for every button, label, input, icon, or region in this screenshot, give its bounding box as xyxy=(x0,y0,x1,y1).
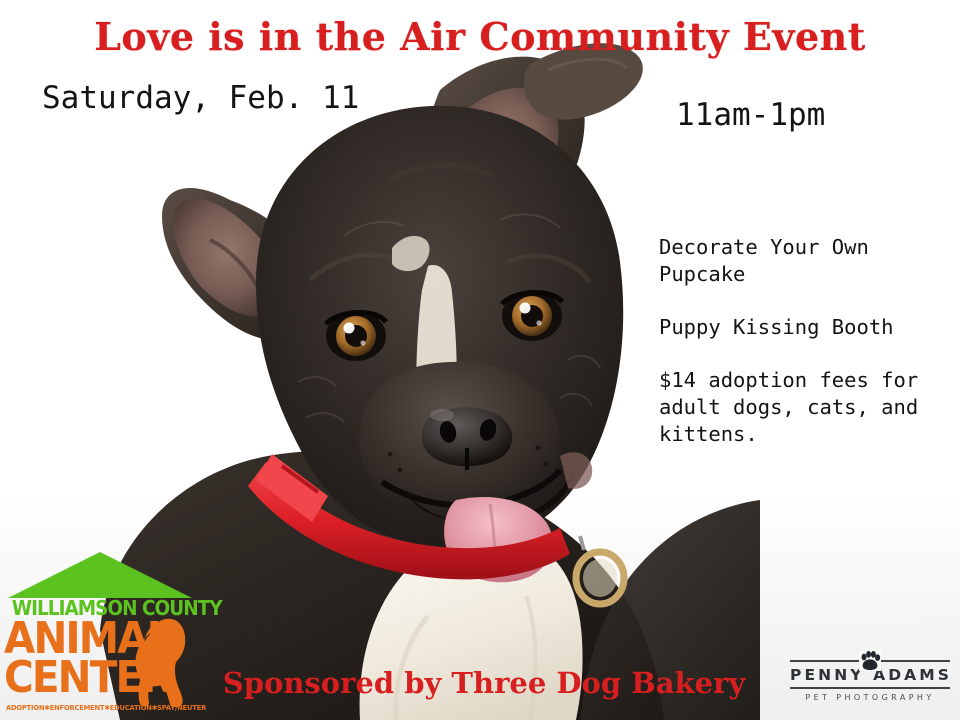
list-item: Puppy Kissing Booth xyxy=(659,314,951,341)
event-time: 11am-1pm xyxy=(676,97,825,133)
sitting-dog-icon xyxy=(126,616,196,708)
williamson-county-animal-center-logo: WILLIAMSON COUNTY ANIMAL CENTER ADOPTION… xyxy=(2,552,198,714)
divider-bottom xyxy=(790,687,950,689)
logo-tagline: ADOPTION✱ENFORCEMENT✱EDUCATION✱SPAY/NEUT… xyxy=(6,704,186,712)
list-item: $14 adoption fees for adult dogs, cats, … xyxy=(659,367,951,448)
list-item: Decorate Your Own Pupcake xyxy=(659,234,951,288)
activity-list: Decorate Your Own Pupcake Puppy Kissing … xyxy=(659,234,951,448)
page-title: Love is in the Air Community Event xyxy=(0,14,960,59)
photographer-watermark: PENNY ADAMS PET PHOTOGRAPHY xyxy=(790,648,950,704)
house-roof-icon xyxy=(8,552,192,598)
event-poster: Love is in the Air Community Event Satur… xyxy=(0,0,960,720)
photographer-subtitle: PET PHOTOGRAPHY xyxy=(790,693,950,702)
paw-print-icon xyxy=(859,651,881,671)
event-date: Saturday, Feb. 11 xyxy=(42,80,359,116)
